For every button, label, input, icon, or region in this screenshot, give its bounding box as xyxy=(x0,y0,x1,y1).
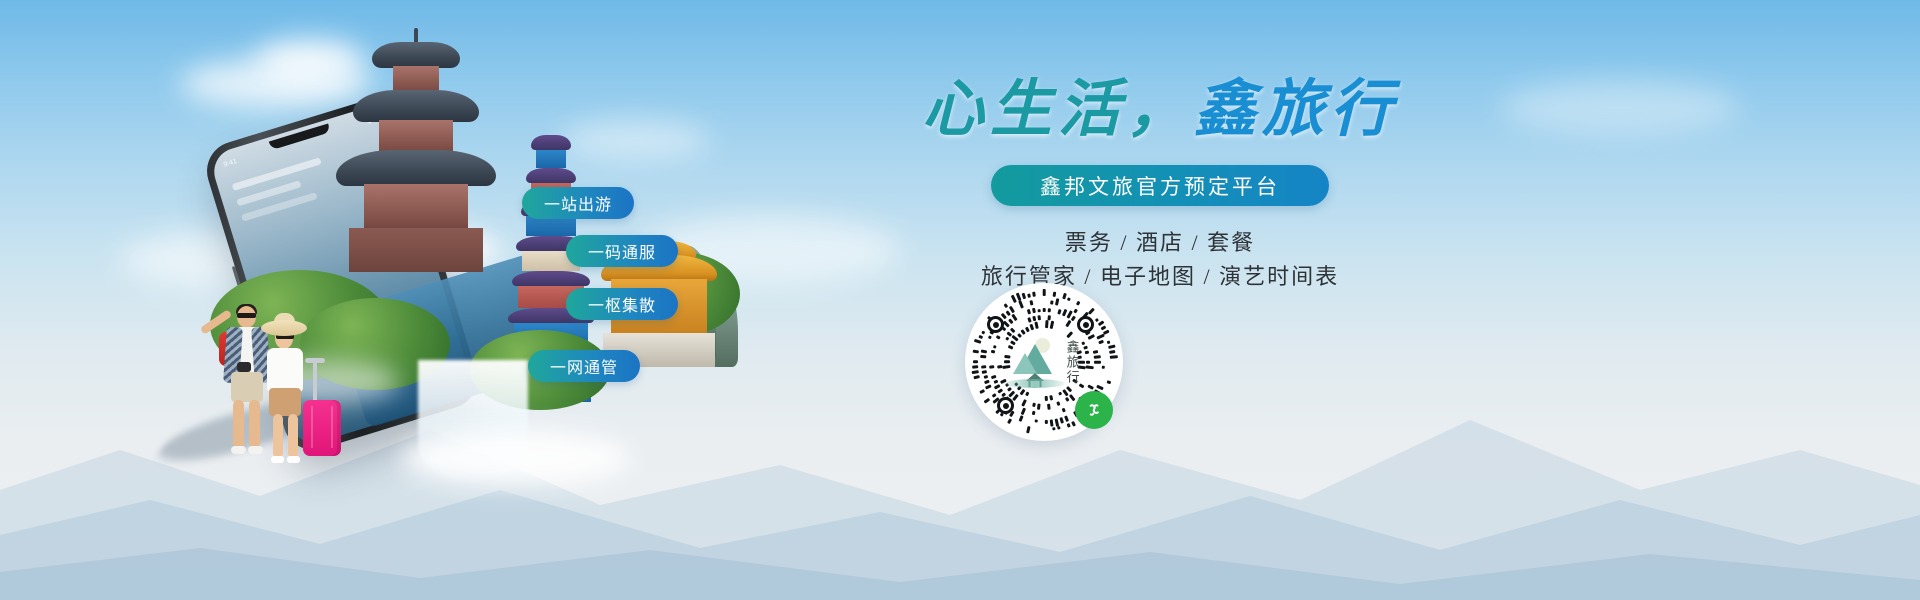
pagoda-tier xyxy=(536,150,566,168)
qr-tick xyxy=(982,371,987,374)
qr-tick xyxy=(1064,415,1069,422)
qr-tick xyxy=(1032,316,1036,321)
qr-tick xyxy=(1087,334,1094,340)
qr-tick xyxy=(1057,401,1061,406)
qr-tick xyxy=(989,366,994,369)
qr-tick xyxy=(973,350,979,353)
qr-tick xyxy=(1110,355,1118,358)
leg xyxy=(233,400,244,448)
qr-tick xyxy=(1003,303,1007,308)
qr-tick xyxy=(1033,403,1036,407)
qr-tick xyxy=(1026,426,1030,433)
platform-badge-label: 鑫邦文旅官方预定平台 xyxy=(1040,171,1280,201)
qr-tick xyxy=(1050,395,1054,400)
qr-tick xyxy=(1060,417,1064,423)
qr-tick xyxy=(1027,293,1030,297)
qr-tick xyxy=(1057,426,1060,430)
qr-tick xyxy=(1062,293,1066,299)
qr-tick xyxy=(1071,316,1076,322)
qr-finder-icon xyxy=(997,397,1014,414)
cloud-icon xyxy=(1500,80,1740,135)
qr-tick xyxy=(1094,355,1101,358)
blouse xyxy=(267,348,303,392)
pagoda-roof xyxy=(512,271,590,286)
service-line: 旅行管家 / 电子地图 / 演艺时间表 xyxy=(810,260,1510,294)
qr-tick xyxy=(1035,419,1038,422)
pill-label: 一站出游 xyxy=(544,191,612,215)
shoe xyxy=(271,456,284,463)
qr-tick xyxy=(1011,314,1017,321)
feature-pill-one-code-service[interactable]: 一码通服 xyxy=(566,235,678,267)
pagoda-base xyxy=(349,228,483,272)
qr-tick xyxy=(1053,427,1056,430)
qr-tick xyxy=(1076,301,1080,306)
qr-tick xyxy=(1065,320,1071,327)
qr-tick xyxy=(1005,311,1010,317)
feature-pill-one-hub-transfer[interactable]: 一枢集散 xyxy=(566,288,678,320)
shoe xyxy=(287,456,300,463)
qr-tick xyxy=(994,380,999,384)
qr-tick xyxy=(1029,324,1033,331)
pill-label: 一网通管 xyxy=(550,354,618,378)
qr-tick xyxy=(1055,298,1059,305)
qr-tick xyxy=(1037,315,1040,320)
sun-hat-icon xyxy=(261,320,307,336)
promo-text-block: 心生活，鑫旅行 鑫邦文旅官方预定平台 票务 / 酒店 / 套餐 旅行管家 / 电… xyxy=(810,78,1510,294)
qr-tick xyxy=(1021,408,1026,415)
qr-tick xyxy=(981,350,987,354)
qr-tick xyxy=(1050,300,1053,304)
camera-icon xyxy=(237,362,251,372)
qr-tick xyxy=(1045,320,1048,328)
qr-tick xyxy=(1032,411,1035,415)
qr-tick xyxy=(1103,330,1110,335)
qr-tick xyxy=(1053,292,1056,297)
qr-tick xyxy=(1069,394,1075,401)
qr-tick xyxy=(996,335,1001,339)
service-line: 票务 / 酒店 / 套餐 xyxy=(810,226,1510,260)
qr-tick xyxy=(1067,297,1071,301)
sunglasses-icon xyxy=(237,313,256,318)
qr-tick xyxy=(984,398,990,404)
qr-tick xyxy=(1007,419,1012,425)
headline-part-a: 心生活， xyxy=(922,76,1194,144)
qr-tick xyxy=(1067,423,1071,428)
qr-tick xyxy=(1050,419,1053,426)
qr-tick xyxy=(993,345,997,348)
pagoda-roof xyxy=(336,150,496,186)
water-wash xyxy=(1005,379,1065,388)
qr-tick xyxy=(1027,317,1031,323)
qr-tick xyxy=(981,366,986,369)
shorts xyxy=(269,388,301,416)
qr-tick xyxy=(1109,350,1115,353)
qr-tick xyxy=(1045,396,1048,401)
pill-label: 一码通服 xyxy=(588,239,656,263)
qr-tick xyxy=(1062,408,1066,413)
suitcase-handle xyxy=(313,362,317,404)
qr-tick xyxy=(1101,325,1107,330)
qr-center-logo: 鑫旅行 xyxy=(1001,331,1087,393)
pagoda-tower xyxy=(336,42,496,292)
leg xyxy=(288,414,298,458)
shoe xyxy=(231,446,246,454)
pagoda-roof xyxy=(372,42,460,68)
qr-tick xyxy=(1094,361,1101,364)
headline: 心生活，鑫旅行 xyxy=(810,78,1510,143)
status-time: 9:41 xyxy=(223,157,238,168)
qr-tick xyxy=(1050,321,1054,329)
qr-tick xyxy=(981,331,985,335)
qr-tick xyxy=(974,339,981,344)
qr-tick xyxy=(979,389,985,394)
qr-tick xyxy=(1047,404,1050,410)
qr-tick xyxy=(1087,384,1094,389)
mountain-logo-icon xyxy=(1009,336,1061,388)
qr-tick xyxy=(1065,397,1069,402)
platform-badge: 鑫邦文旅官方预定平台 xyxy=(991,165,1329,206)
qr-tick xyxy=(1057,309,1061,315)
qr-tick xyxy=(1048,308,1051,312)
qr-tick xyxy=(1096,385,1103,390)
qr-tick xyxy=(974,375,980,379)
qr-tick xyxy=(1108,344,1115,348)
qr-tick xyxy=(1095,318,1099,322)
leg xyxy=(273,414,283,458)
qr-tick xyxy=(1037,404,1040,410)
qr-tick xyxy=(984,375,989,379)
qr-tick xyxy=(1071,421,1076,427)
pagoda-tier xyxy=(379,120,453,154)
qr-tick xyxy=(991,350,995,353)
pill-label: 一枢集散 xyxy=(588,292,656,316)
qr-tick xyxy=(992,393,997,397)
qr-tick xyxy=(1034,322,1038,329)
qr-tick xyxy=(972,371,979,375)
qr-tick xyxy=(1022,399,1027,406)
qr-tick xyxy=(1011,295,1017,303)
qr-tick xyxy=(1009,306,1015,313)
qr-tick xyxy=(1016,293,1021,301)
pagoda-tier xyxy=(526,216,576,236)
qr-tick xyxy=(1018,300,1023,308)
feature-pill-one-stop-travel[interactable]: 一站出游 xyxy=(522,187,634,219)
qr-tick xyxy=(978,335,983,339)
wechat-miniprogram-icon xyxy=(1075,391,1113,429)
qr-tick xyxy=(1107,380,1112,384)
qr-tick xyxy=(980,355,986,358)
qr-code[interactable]: 鑫旅行 xyxy=(965,283,1123,441)
qr-tick xyxy=(1027,309,1031,315)
feature-pill-one-network-management[interactable]: 一网通管 xyxy=(528,350,640,382)
qr-tick xyxy=(972,366,978,369)
qr-tick xyxy=(1008,319,1013,325)
qr-tick xyxy=(1043,289,1046,296)
suitcase-icon xyxy=(303,400,341,456)
qr-tick xyxy=(1038,309,1041,312)
qr-tick xyxy=(1043,308,1046,312)
pagoda-roof xyxy=(353,90,479,122)
qr-tick xyxy=(1093,350,1098,354)
qr-tick xyxy=(984,380,990,384)
pagoda-roof xyxy=(531,135,571,150)
qr-brand-text: 鑫旅行 xyxy=(1064,340,1078,385)
traveler-couple xyxy=(195,300,355,480)
qr-tick xyxy=(1107,340,1111,343)
qr-tick xyxy=(1098,340,1104,344)
qr-tick xyxy=(1047,315,1050,320)
qr-tick xyxy=(1022,293,1026,299)
qr-tick xyxy=(1029,300,1033,305)
headline-part-b: 鑫旅行 xyxy=(1194,76,1398,144)
qr-tick xyxy=(1012,394,1018,401)
peak-shape xyxy=(1013,353,1037,374)
mist-icon xyxy=(400,430,630,486)
qr-tick xyxy=(1032,308,1036,313)
qr-tick xyxy=(1102,366,1105,369)
qr-tick xyxy=(1032,292,1035,297)
pagoda-roof xyxy=(526,168,576,183)
qr-tick xyxy=(1045,420,1048,424)
service-list: 票务 / 酒店 / 套餐 旅行管家 / 电子地图 / 演艺时间表 xyxy=(810,226,1510,294)
pagoda-tier xyxy=(364,184,468,230)
qr-tick xyxy=(1073,309,1077,314)
qr-tick xyxy=(985,385,992,390)
qr-tick xyxy=(988,336,992,340)
qr-tick xyxy=(991,375,997,379)
qr-tick xyxy=(973,361,978,364)
qr-tick xyxy=(1019,415,1024,422)
qr-tick xyxy=(1088,308,1095,315)
